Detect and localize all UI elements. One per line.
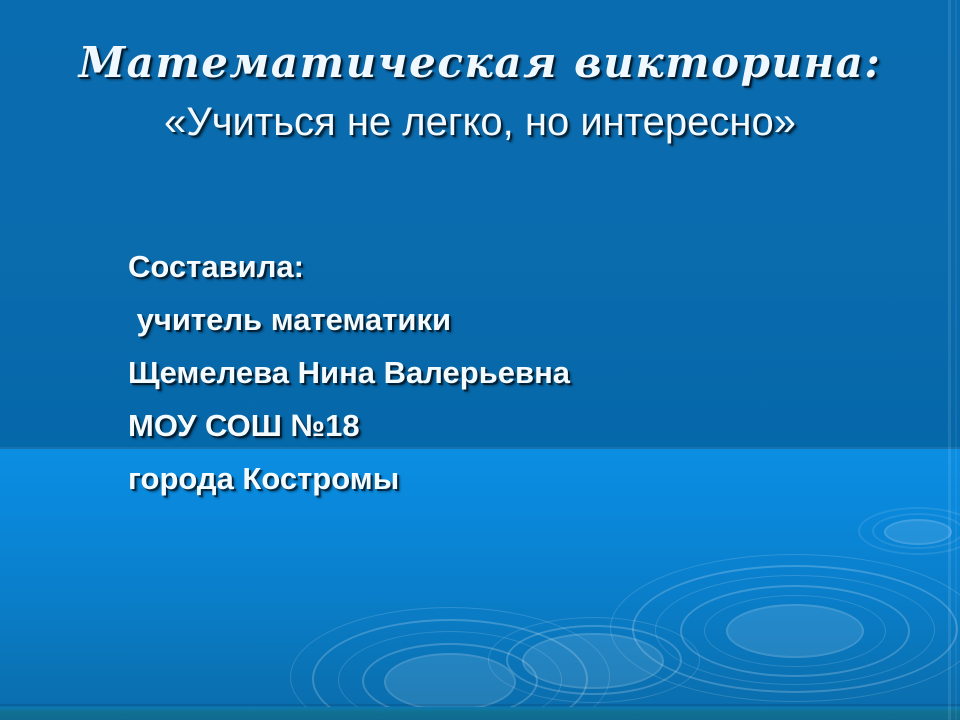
ripple-ring — [872, 513, 960, 549]
presentation-slide: Математическая викторина: «Учиться не ле… — [0, 0, 960, 720]
body-line-city: города Костромы — [128, 452, 848, 505]
ripple-ring — [704, 595, 886, 667]
title-line-2: «Учиться не легко, но интересно» — [0, 96, 960, 148]
ripple-ring — [858, 507, 960, 555]
body-line-role: учитель математики — [128, 293, 848, 346]
bottom-strip — [0, 707, 960, 720]
title-line-1: Математическая викторина: — [0, 36, 960, 90]
slide-body: Составила: учитель математики Щемелева Н… — [128, 240, 848, 505]
ripple-ring — [632, 565, 958, 693]
ripple-core — [726, 604, 864, 658]
ripple-ring — [680, 585, 910, 677]
ripple-core — [884, 519, 952, 545]
ripple-core — [384, 653, 516, 711]
body-line-author-name: Щемелева Нина Валерьевна — [128, 346, 848, 399]
ripple-ring — [488, 617, 700, 703]
ripple-ring — [506, 625, 682, 695]
body-line-school: МОУ СОШ №18 — [128, 399, 848, 452]
ripple-core — [522, 633, 664, 689]
bottom-divider — [0, 704, 960, 706]
ripple-ring — [610, 554, 960, 702]
ripple-ring — [655, 575, 935, 685]
body-line-author-label: Составила: — [128, 240, 848, 293]
slide-title: Математическая викторина: «Учиться не ле… — [0, 36, 960, 148]
